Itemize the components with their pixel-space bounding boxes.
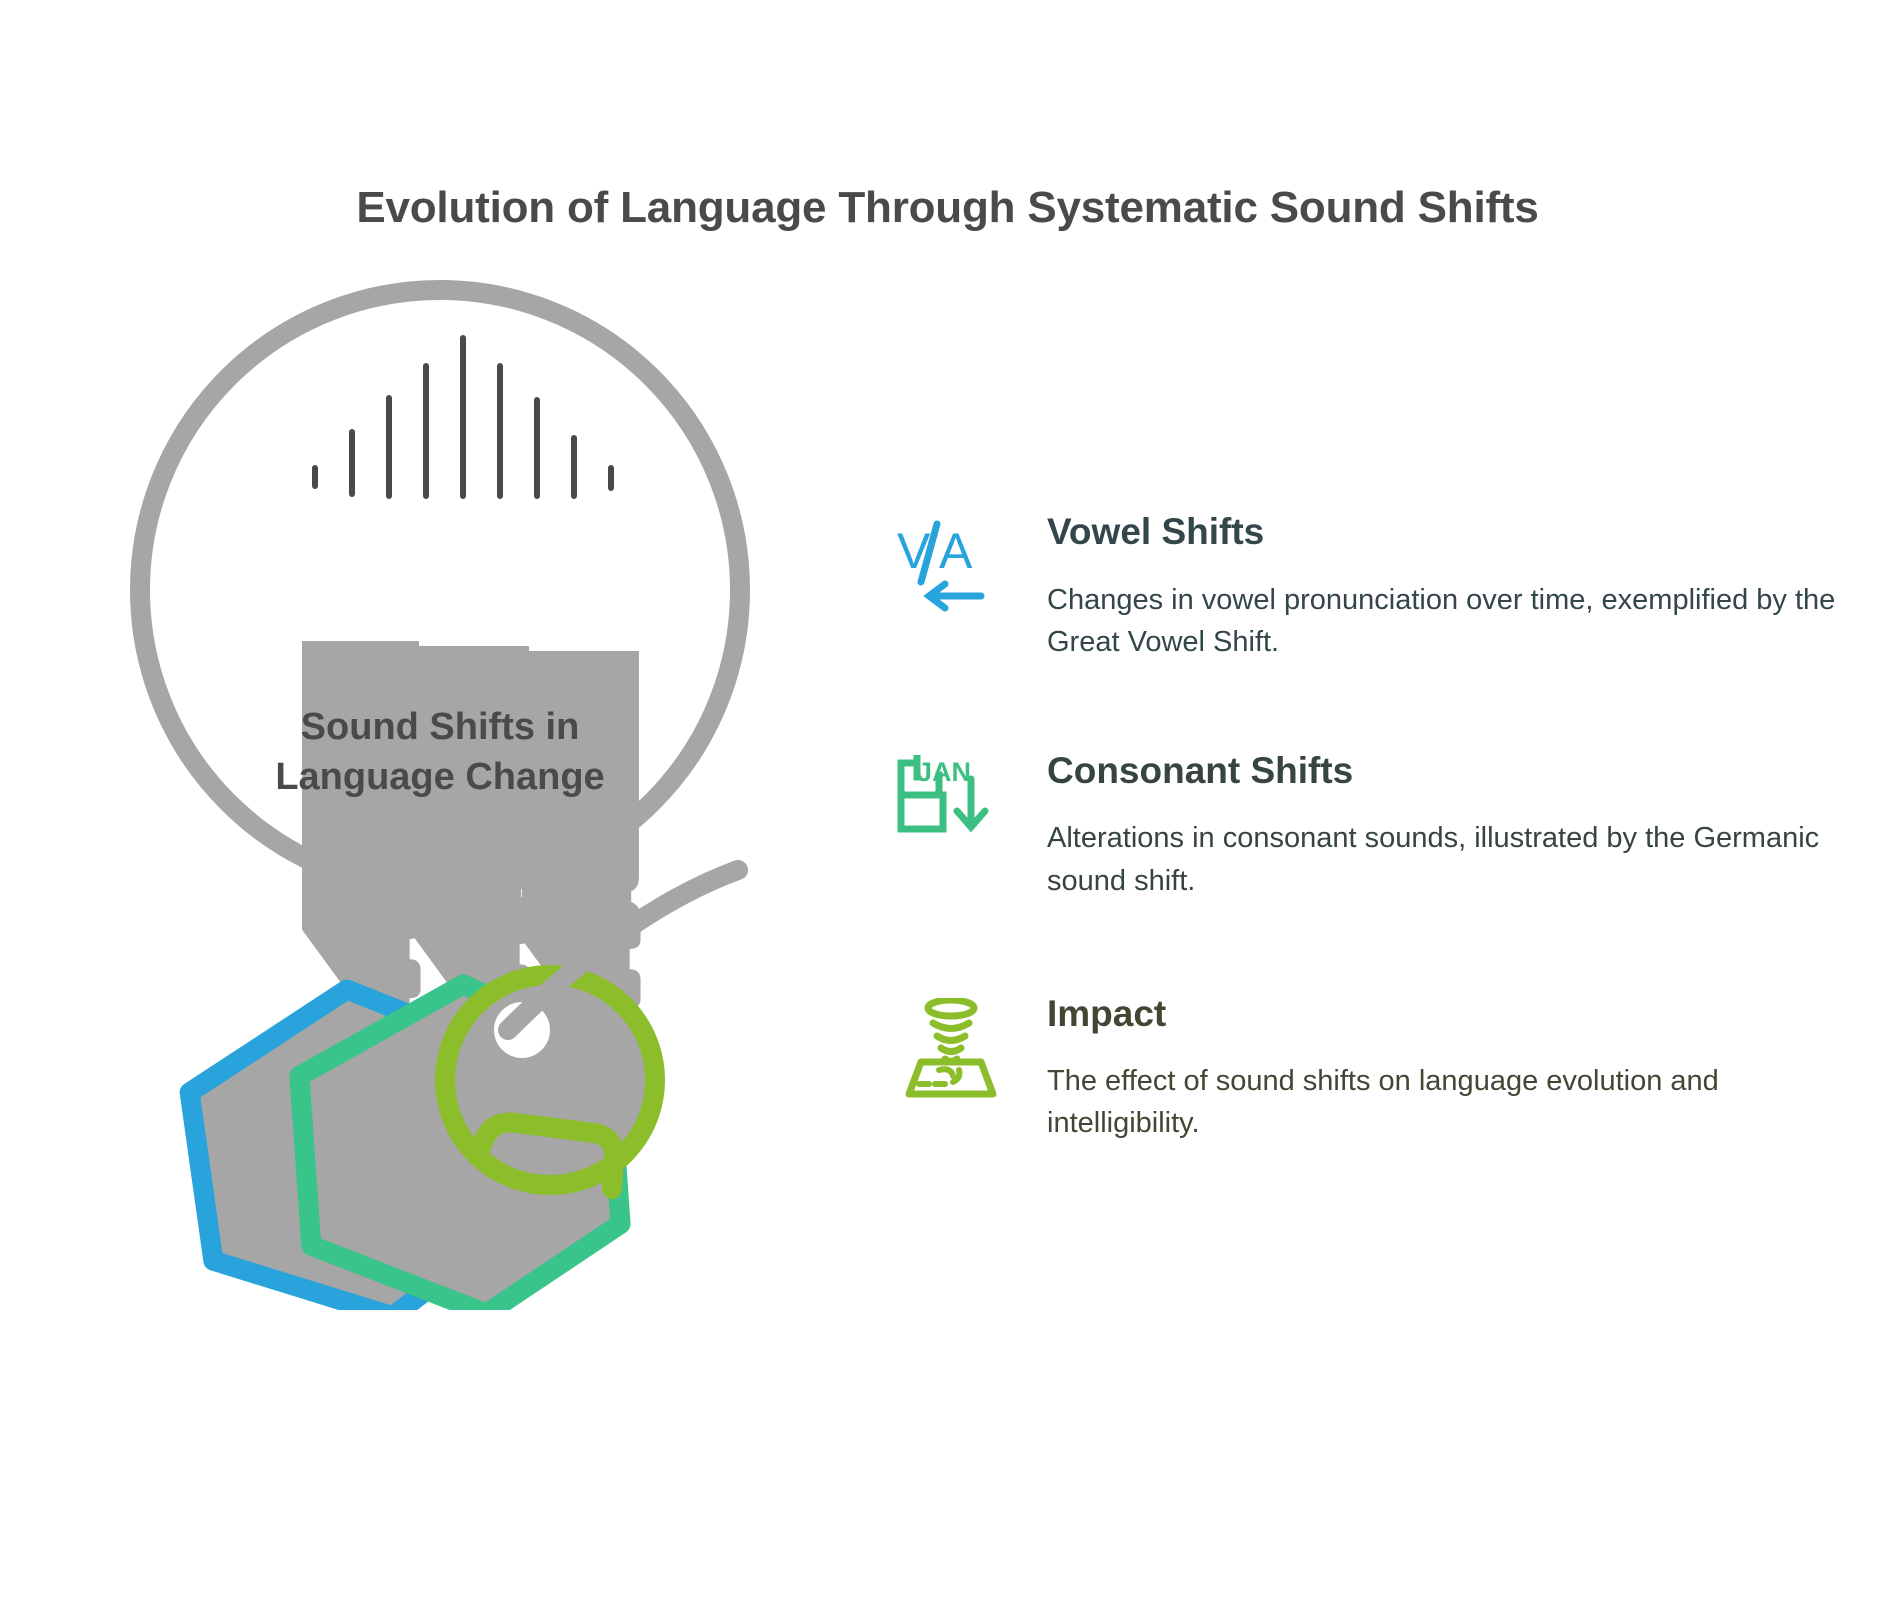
- vowel-arrow-icon: V A: [895, 516, 999, 620]
- hero-label: Sound Shifts in Language Change: [90, 702, 790, 802]
- feature-item-impact: Impact The effect of sound shifts on lan…: [895, 994, 1855, 1145]
- hero-label-line2: Language Change: [275, 756, 604, 798]
- feature-item-consonant-shifts: JAN Consonant Shifts Alterations in cons…: [895, 751, 1855, 902]
- calendar-month-label: JAN: [917, 757, 971, 787]
- feature-list: V A Vowel Shifts Changes in vowel pronun…: [895, 498, 1855, 1204]
- feature-item-vowel-shifts: V A Vowel Shifts Changes in vowel pronun…: [895, 512, 1855, 663]
- feature-heading: Impact: [1047, 994, 1855, 1035]
- hero-illustration: Sound Shifts in Language Change: [90, 240, 850, 1310]
- vowel-icon-letter-a: A: [939, 523, 973, 579]
- waveform-icon: [315, 338, 611, 496]
- tornado-impact-icon: [895, 998, 999, 1102]
- feature-description: The effect of sound shifts on language e…: [1047, 1060, 1837, 1144]
- feature-description: Changes in vowel pronunciation over time…: [1047, 579, 1837, 663]
- feature-heading: Vowel Shifts: [1047, 512, 1855, 553]
- feature-description: Alterations in consonant sounds, illustr…: [1047, 817, 1837, 901]
- calendar-jan-down-arrow-icon: JAN: [895, 755, 999, 859]
- hero-label-line1: Sound Shifts in: [301, 706, 580, 748]
- page-title: Evolution of Language Through Systematic…: [0, 183, 1895, 233]
- feature-heading: Consonant Shifts: [1047, 751, 1855, 792]
